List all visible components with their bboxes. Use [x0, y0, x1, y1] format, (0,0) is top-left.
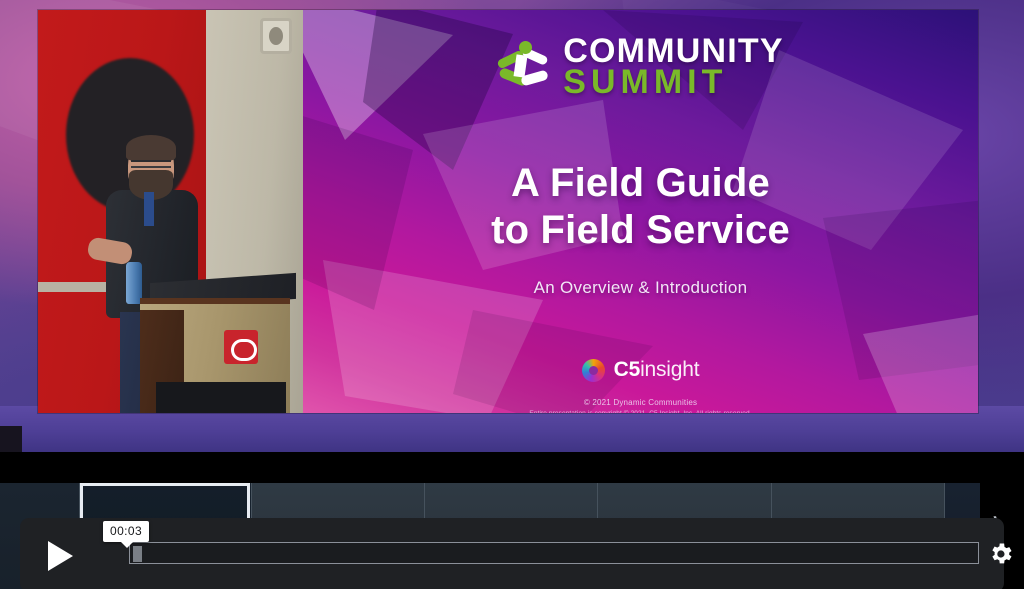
sponsor-name-light: insight [640, 358, 699, 381]
stage-left-nub [0, 426, 22, 452]
podium-base [156, 382, 286, 413]
gear-icon [987, 540, 1015, 568]
slide-frame: COMMUNITY SUMMIT A Field Guide to Field … [38, 10, 978, 413]
copyright-block: © 2021 Dynamic Communities Entire presen… [303, 398, 978, 413]
presenter-glasses [131, 160, 171, 168]
scrubber-handle-icon[interactable] [133, 546, 142, 562]
sponsor-name-bold: C5 [614, 358, 640, 381]
podium-logo-icon [224, 330, 258, 364]
player-control-bar[interactable] [20, 518, 1004, 589]
running-figure-icon [497, 40, 549, 94]
wall-vent [260, 18, 292, 54]
logo-line-summit: SUMMIT [563, 67, 783, 98]
play-button[interactable] [38, 534, 82, 578]
sponsor-logo: C5insight [303, 358, 978, 382]
copyright-line-1: © 2021 Dynamic Communities [303, 398, 978, 407]
c5insight-pinwheel-icon [582, 359, 605, 382]
video-player[interactable]: COMMUNITY SUMMIT A Field Guide to Field … [0, 0, 1024, 589]
presenter-lanyard [144, 192, 154, 226]
settings-button[interactable] [987, 540, 1015, 568]
slide-title-line2: to Field Service [303, 207, 978, 254]
progress-slider[interactable] [129, 542, 979, 564]
c5insight-wordmark: C5insight [614, 358, 700, 382]
community-summit-wordmark: COMMUNITY SUMMIT [563, 36, 783, 99]
letterbox-band [0, 452, 1024, 483]
presenter-camera-feed [38, 10, 303, 413]
slide-title: A Field Guide to Field Service [303, 160, 978, 254]
community-summit-logo: COMMUNITY SUMMIT [303, 36, 978, 99]
video-stage[interactable]: COMMUNITY SUMMIT A Field Guide to Field … [0, 0, 1024, 452]
play-triangle-icon [48, 541, 73, 571]
slide-title-line1: A Field Guide [303, 160, 978, 207]
time-tooltip: 00:03 [103, 521, 149, 542]
copyright-line-2: Entire presentation is copyright © 2021,… [303, 410, 978, 413]
presenter-hair [126, 135, 176, 161]
slide-subtitle: An Overview & Introduction [303, 278, 978, 298]
slide-deck: COMMUNITY SUMMIT A Field Guide to Field … [303, 10, 978, 413]
